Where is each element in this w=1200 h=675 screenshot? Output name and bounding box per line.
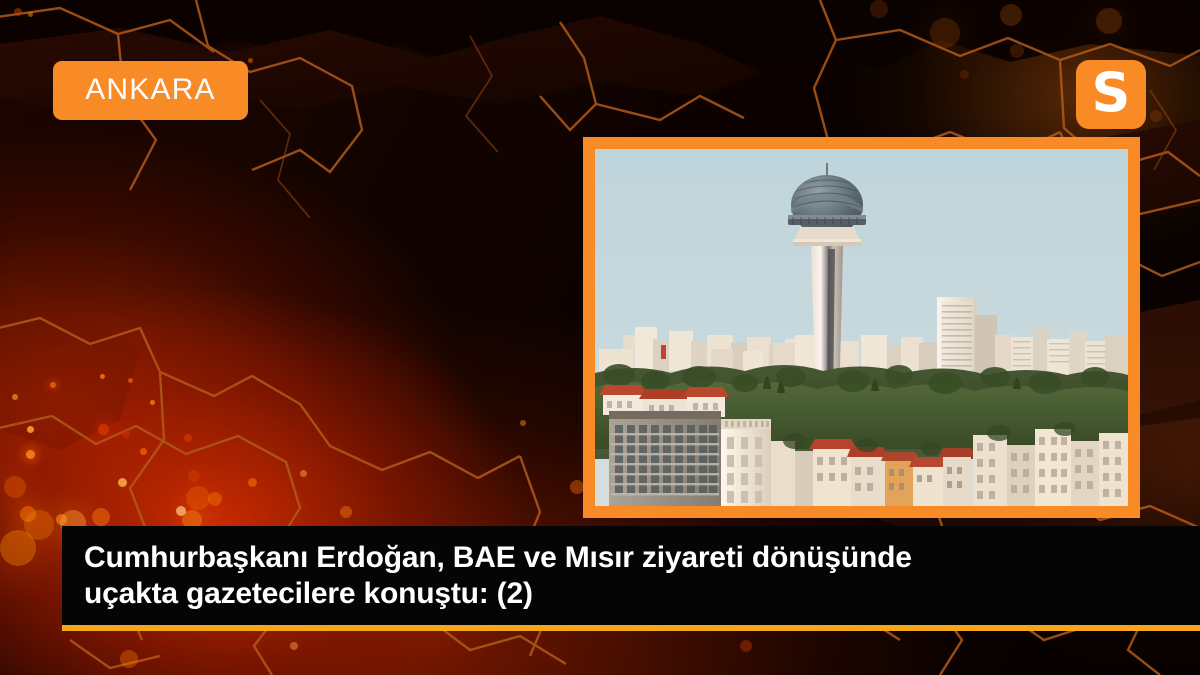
accent-rule	[62, 625, 1200, 631]
ankara-skyline-illustration	[595, 149, 1128, 506]
location-badge-label: ANKARA	[85, 75, 216, 107]
headline-line-1: Cumhurbaşkanı Erdoğan, BAE ve Mısır ziya…	[84, 540, 1200, 576]
news-photo	[595, 149, 1128, 506]
headline-line-2: uçakta gazetecilere konuştu: (2)	[84, 576, 1200, 612]
photo-frame	[583, 137, 1140, 518]
news-card: ANKARA S	[0, 0, 1200, 675]
location-badge[interactable]: ANKARA	[53, 61, 248, 120]
headline-bar: Cumhurbaşkanı Erdoğan, BAE ve Mısır ziya…	[62, 526, 1200, 625]
brand-logo-letter: S	[1092, 66, 1131, 123]
brand-logo[interactable]: S	[1076, 60, 1146, 129]
